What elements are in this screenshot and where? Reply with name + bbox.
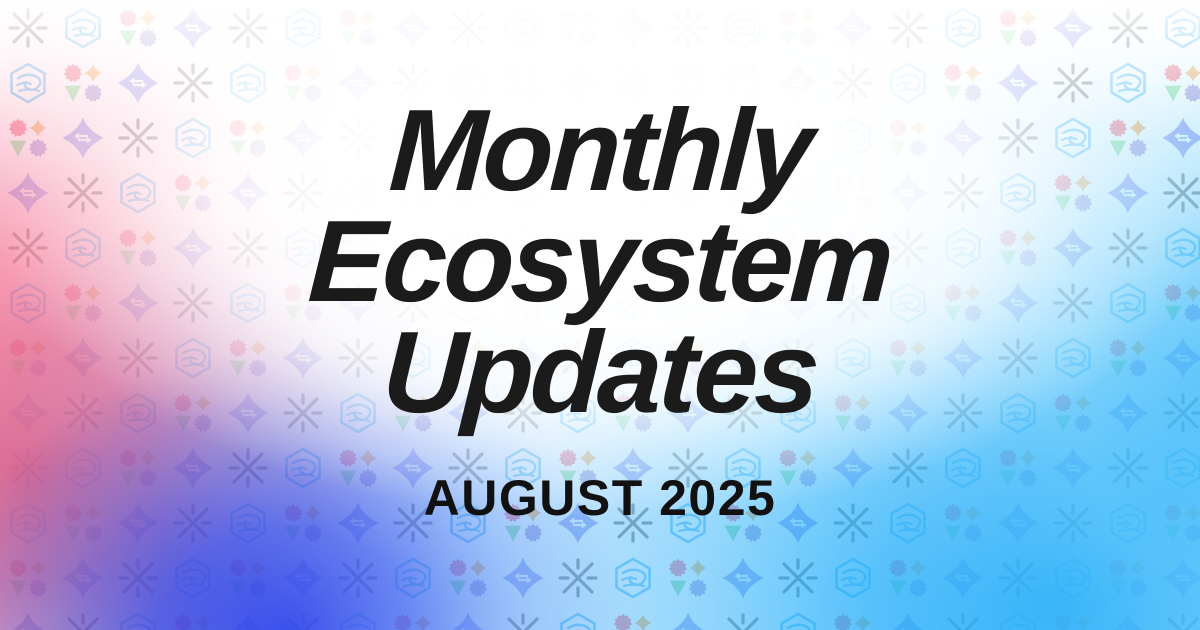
shape-cluster-icon (1051, 391, 1095, 435)
swap-star-icon (556, 281, 600, 325)
shape-cluster-icon (886, 336, 930, 380)
hexagon-spiral-icon (61, 226, 105, 270)
shape-cluster-icon (996, 446, 1040, 490)
swap-star-icon (446, 391, 490, 435)
shape-cluster-icon (391, 391, 435, 435)
swap-star-icon (666, 611, 710, 630)
hexagon-spiral-icon (226, 61, 270, 105)
starburst-icon (611, 281, 655, 325)
shape-cluster-icon (776, 6, 820, 50)
swap-star-icon (6, 391, 50, 435)
starburst-icon (556, 556, 600, 600)
starburst-icon (171, 501, 215, 545)
shape-cluster-icon (446, 116, 490, 160)
starburst-icon (281, 391, 325, 435)
hexagon-spiral-icon (281, 446, 325, 490)
hexagon-spiral-icon (61, 446, 105, 490)
swap-star-icon (446, 611, 490, 630)
hexagon-spiral-icon (1051, 336, 1095, 380)
starburst-icon (1051, 61, 1095, 105)
shape-cluster-icon (611, 171, 655, 215)
starburst-icon (226, 446, 270, 490)
hexagon-spiral-icon (1106, 61, 1150, 105)
hexagon-spiral-icon (831, 556, 875, 600)
swap-star-icon (226, 171, 270, 215)
shape-cluster-icon (501, 61, 545, 105)
starburst-icon (446, 6, 490, 50)
shape-cluster-icon (226, 556, 270, 600)
swap-star-icon (446, 171, 490, 215)
shape-cluster-icon (171, 171, 215, 215)
hexagon-spiral-icon (391, 556, 435, 600)
hexagon-spiral-icon (446, 61, 490, 105)
shape-cluster-icon (831, 171, 875, 215)
shape-cluster-icon (501, 281, 545, 325)
swap-star-icon (886, 611, 930, 630)
swap-star-icon (776, 281, 820, 325)
swap-star-icon (1051, 6, 1095, 50)
shape-cluster-icon (281, 61, 325, 105)
starburst-icon (6, 446, 50, 490)
shape-cluster-icon (116, 226, 160, 270)
starburst-icon (1106, 226, 1150, 270)
shape-cluster-icon (281, 501, 325, 545)
swap-star-icon (501, 556, 545, 600)
shape-cluster-icon (1051, 611, 1095, 630)
swap-star-icon (336, 61, 380, 105)
hexagon-spiral-icon (1051, 116, 1095, 160)
hexagon-spiral-icon (336, 611, 380, 630)
hexagon-spiral-icon (6, 281, 50, 325)
swap-star-icon (281, 336, 325, 380)
hexagon-spiral-icon (1161, 446, 1200, 490)
shape-cluster-icon (446, 336, 490, 380)
swap-star-icon (1161, 336, 1200, 380)
shape-cluster-icon (721, 281, 765, 325)
starburst-icon (6, 226, 50, 270)
shape-cluster-icon (556, 6, 600, 50)
swap-star-icon (666, 391, 710, 435)
swap-star-icon (336, 281, 380, 325)
shape-cluster-icon (1106, 556, 1150, 600)
swap-star-icon (1161, 116, 1200, 160)
hexagon-spiral-icon (391, 336, 435, 380)
starburst-icon (226, 6, 270, 50)
starburst-icon (336, 336, 380, 380)
starburst-icon (886, 6, 930, 50)
shape-cluster-icon (226, 116, 270, 160)
starburst-icon (6, 6, 50, 50)
shape-cluster-icon (721, 61, 765, 105)
hexagon-spiral-icon (776, 171, 820, 215)
hexagon-spiral-icon (446, 281, 490, 325)
hexagon-spiral-icon (556, 611, 600, 630)
swap-star-icon (6, 171, 50, 215)
hexagon-spiral-icon (666, 501, 710, 545)
starburst-icon (1106, 6, 1150, 50)
shape-cluster-icon (776, 446, 820, 490)
swap-star-icon (996, 61, 1040, 105)
starburst-icon (831, 501, 875, 545)
swap-star-icon (611, 446, 655, 490)
starburst-icon (666, 446, 710, 490)
starburst-icon (501, 171, 545, 215)
swap-star-icon (996, 501, 1040, 545)
starburst-icon (941, 171, 985, 215)
shape-cluster-icon (6, 556, 50, 600)
starburst-icon (336, 116, 380, 160)
starburst-icon (721, 391, 765, 435)
swap-star-icon (281, 116, 325, 160)
starburst-icon (666, 226, 710, 270)
swap-star-icon (501, 116, 545, 160)
shape-cluster-icon (61, 281, 105, 325)
shape-cluster-icon (336, 6, 380, 50)
starburst-icon (996, 556, 1040, 600)
starburst-icon (171, 61, 215, 105)
swap-star-icon (831, 446, 875, 490)
swap-star-icon (391, 446, 435, 490)
starburst-icon (996, 336, 1040, 380)
swap-star-icon (501, 336, 545, 380)
swap-star-icon (226, 391, 270, 435)
shape-cluster-icon (1161, 281, 1200, 325)
shape-cluster-icon (886, 116, 930, 160)
shape-cluster-icon (61, 501, 105, 545)
hexagon-spiral-icon (721, 446, 765, 490)
starburst-icon (61, 171, 105, 215)
swap-star-icon (391, 226, 435, 270)
hexagon-spiral-icon (6, 61, 50, 105)
starburst-icon (391, 281, 435, 325)
hexagon-spiral-icon (941, 6, 985, 50)
starburst-icon (886, 446, 930, 490)
shape-cluster-icon (1161, 501, 1200, 545)
hexagon-spiral-icon (116, 171, 160, 215)
swap-star-icon (721, 336, 765, 380)
swap-star-icon (1051, 446, 1095, 490)
banner-canvas: Monthly Ecosystem Updates AUGUST 2025 (0, 0, 1200, 630)
hexagon-spiral-icon (281, 226, 325, 270)
shape-cluster-icon (996, 226, 1040, 270)
swap-star-icon (831, 6, 875, 50)
starburst-icon (1051, 281, 1095, 325)
swap-star-icon (1051, 226, 1095, 270)
shape-cluster-icon (996, 6, 1040, 50)
swap-star-icon (61, 116, 105, 160)
swap-star-icon (776, 501, 820, 545)
hexagon-spiral-icon (611, 116, 655, 160)
swap-star-icon (1106, 611, 1150, 630)
swap-star-icon (941, 556, 985, 600)
shape-cluster-icon (941, 61, 985, 105)
shape-cluster-icon (281, 281, 325, 325)
hexagon-spiral-icon (831, 116, 875, 160)
swap-star-icon (6, 611, 50, 630)
swap-star-icon (941, 336, 985, 380)
shape-cluster-icon (6, 116, 50, 160)
icon-pattern-layer (0, 0, 1200, 630)
shape-cluster-icon (391, 171, 435, 215)
hexagon-spiral-icon (336, 171, 380, 215)
shape-cluster-icon (1161, 61, 1200, 105)
starburst-icon (116, 116, 160, 160)
hexagon-spiral-icon (446, 501, 490, 545)
hexagon-spiral-icon (6, 501, 50, 545)
hexagon-spiral-icon (556, 391, 600, 435)
swap-star-icon (226, 611, 270, 630)
swap-star-icon (171, 226, 215, 270)
hexagon-spiral-icon (666, 61, 710, 105)
shape-cluster-icon (446, 556, 490, 600)
shape-cluster-icon (6, 336, 50, 380)
starburst-icon (1161, 391, 1200, 435)
shape-cluster-icon (336, 226, 380, 270)
shape-cluster-icon (116, 6, 160, 50)
starburst-icon (61, 391, 105, 435)
hexagon-spiral-icon (886, 501, 930, 545)
swap-star-icon (721, 556, 765, 600)
starburst-icon (226, 226, 270, 270)
starburst-icon (391, 501, 435, 545)
starburst-icon (776, 336, 820, 380)
hexagon-spiral-icon (776, 391, 820, 435)
starburst-icon (1051, 501, 1095, 545)
shape-cluster-icon (941, 501, 985, 545)
swap-star-icon (556, 61, 600, 105)
shape-cluster-icon (391, 611, 435, 630)
hexagon-spiral-icon (171, 336, 215, 380)
hexagon-spiral-icon (886, 281, 930, 325)
starburst-icon (1161, 171, 1200, 215)
starburst-icon (611, 501, 655, 545)
shape-cluster-icon (831, 611, 875, 630)
shape-cluster-icon (1051, 171, 1095, 215)
hexagon-spiral-icon (226, 281, 270, 325)
swap-star-icon (336, 501, 380, 545)
swap-star-icon (776, 61, 820, 105)
starburst-icon (1161, 611, 1200, 630)
starburst-icon (666, 6, 710, 50)
hexagon-spiral-icon (721, 6, 765, 50)
swap-star-icon (61, 336, 105, 380)
swap-star-icon (281, 556, 325, 600)
starburst-icon (281, 611, 325, 630)
shape-cluster-icon (666, 556, 710, 600)
swap-star-icon (886, 391, 930, 435)
hexagon-spiral-icon (116, 611, 160, 630)
shape-cluster-icon (721, 501, 765, 545)
hexagon-spiral-icon (1106, 281, 1150, 325)
hexagon-spiral-icon (941, 446, 985, 490)
hexagon-spiral-icon (501, 226, 545, 270)
shape-cluster-icon (171, 391, 215, 435)
hexagon-spiral-icon (611, 336, 655, 380)
starburst-icon (1106, 446, 1150, 490)
swap-star-icon (116, 501, 160, 545)
hexagon-spiral-icon (721, 226, 765, 270)
starburst-icon (996, 116, 1040, 160)
hexagon-spiral-icon (831, 336, 875, 380)
shape-cluster-icon (1106, 116, 1150, 160)
swap-star-icon (391, 6, 435, 50)
starburst-icon (391, 61, 435, 105)
starburst-icon (941, 611, 985, 630)
starburst-icon (721, 171, 765, 215)
hexagon-spiral-icon (171, 556, 215, 600)
starburst-icon (831, 281, 875, 325)
swap-star-icon (556, 501, 600, 545)
starburst-icon (776, 116, 820, 160)
shape-cluster-icon (831, 391, 875, 435)
hexagon-spiral-icon (61, 6, 105, 50)
hexagon-spiral-icon (501, 6, 545, 50)
shape-cluster-icon (171, 611, 215, 630)
starburst-icon (501, 391, 545, 435)
hexagon-spiral-icon (1161, 226, 1200, 270)
starburst-icon (941, 391, 985, 435)
swap-star-icon (116, 281, 160, 325)
shape-cluster-icon (666, 336, 710, 380)
shape-cluster-icon (886, 556, 930, 600)
hexagon-spiral-icon (1051, 556, 1095, 600)
swap-star-icon (886, 171, 930, 215)
shape-cluster-icon (501, 501, 545, 545)
hexagon-spiral-icon (611, 556, 655, 600)
swap-star-icon (61, 556, 105, 600)
starburst-icon (721, 611, 765, 630)
swap-star-icon (941, 116, 985, 160)
shape-cluster-icon (116, 446, 160, 490)
starburst-icon (831, 61, 875, 105)
swap-star-icon (1106, 171, 1150, 215)
hexagon-spiral-icon (1106, 501, 1150, 545)
swap-star-icon (996, 281, 1040, 325)
swap-star-icon (666, 171, 710, 215)
swap-star-icon (611, 226, 655, 270)
starburst-icon (611, 61, 655, 105)
shape-cluster-icon (556, 226, 600, 270)
starburst-icon (446, 226, 490, 270)
swap-star-icon (831, 226, 875, 270)
starburst-icon (116, 336, 160, 380)
hexagon-spiral-icon (391, 116, 435, 160)
swap-star-icon (1161, 556, 1200, 600)
hexagon-spiral-icon (666, 281, 710, 325)
starburst-icon (281, 171, 325, 215)
shape-cluster-icon (226, 336, 270, 380)
hexagon-spiral-icon (336, 391, 380, 435)
swap-star-icon (721, 116, 765, 160)
hexagon-spiral-icon (226, 501, 270, 545)
swap-star-icon (1106, 391, 1150, 435)
shape-cluster-icon (611, 391, 655, 435)
shape-cluster-icon (666, 116, 710, 160)
shape-cluster-icon (611, 611, 655, 630)
hexagon-spiral-icon (501, 446, 545, 490)
hexagon-spiral-icon (1161, 6, 1200, 50)
starburst-icon (171, 281, 215, 325)
starburst-icon (446, 446, 490, 490)
hexagon-spiral-icon (776, 611, 820, 630)
shape-cluster-icon (1106, 336, 1150, 380)
hexagon-spiral-icon (996, 611, 1040, 630)
starburst-icon (556, 116, 600, 160)
hexagon-spiral-icon (171, 116, 215, 160)
hexagon-spiral-icon (281, 6, 325, 50)
starburst-icon (886, 226, 930, 270)
starburst-icon (556, 336, 600, 380)
swap-star-icon (611, 6, 655, 50)
swap-star-icon (171, 6, 215, 50)
hexagon-spiral-icon (116, 391, 160, 435)
shape-cluster-icon (61, 61, 105, 105)
hexagon-spiral-icon (941, 226, 985, 270)
hexagon-spiral-icon (996, 171, 1040, 215)
shape-cluster-icon (556, 446, 600, 490)
starburst-icon (336, 556, 380, 600)
swap-star-icon (171, 446, 215, 490)
shape-cluster-icon (336, 446, 380, 490)
starburst-icon (501, 611, 545, 630)
swap-star-icon (116, 61, 160, 105)
shape-cluster-icon (941, 281, 985, 325)
hexagon-spiral-icon (556, 171, 600, 215)
shape-cluster-icon (776, 226, 820, 270)
starburst-icon (776, 556, 820, 600)
hexagon-spiral-icon (886, 61, 930, 105)
hexagon-spiral-icon (996, 391, 1040, 435)
starburst-icon (116, 556, 160, 600)
starburst-icon (61, 611, 105, 630)
